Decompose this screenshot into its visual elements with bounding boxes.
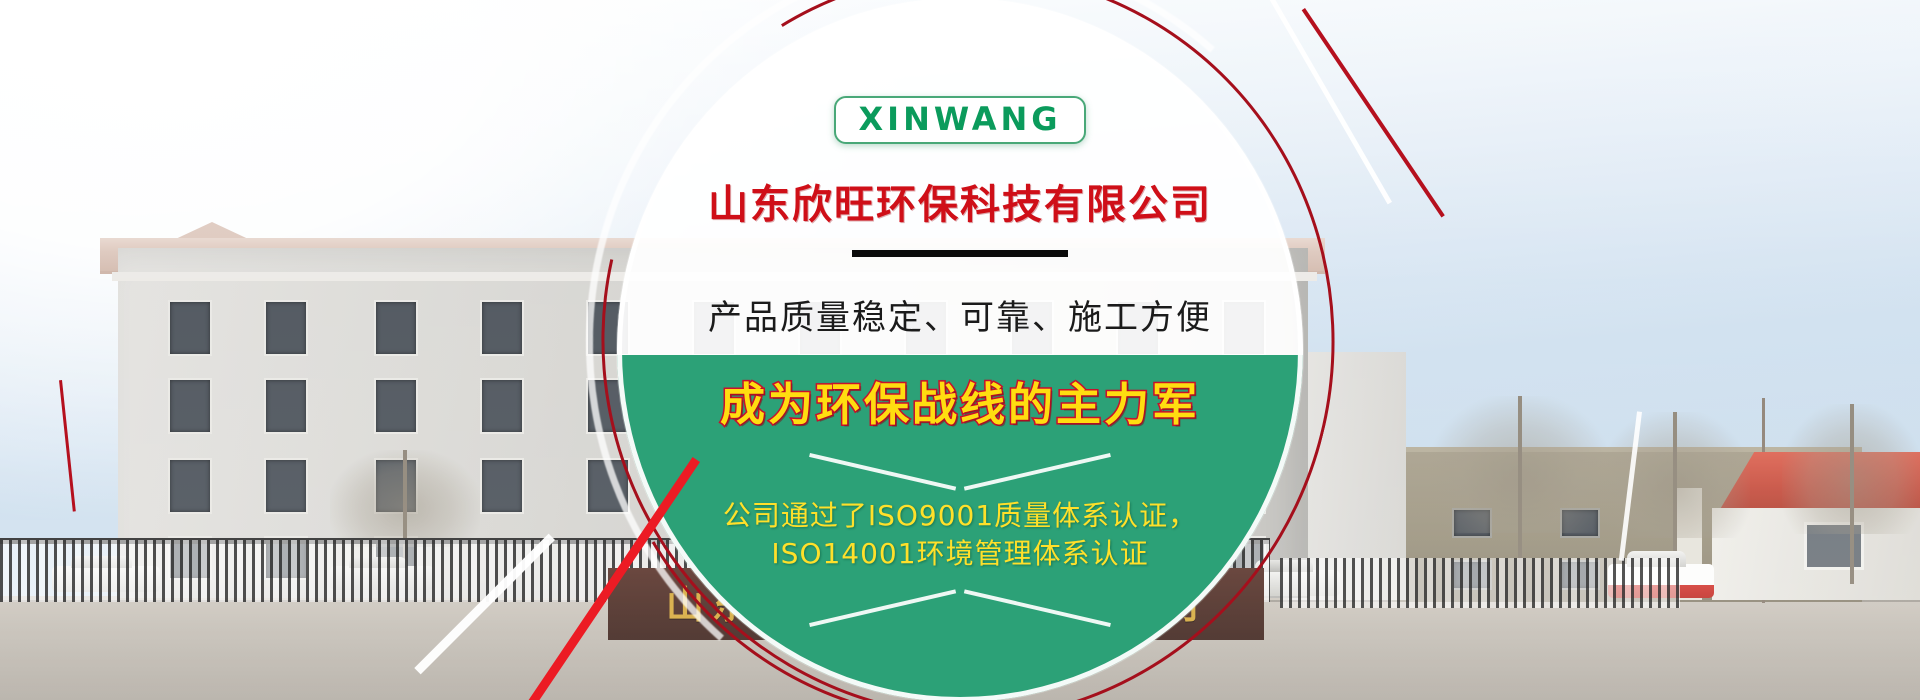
white-diagonal-stroke-icon <box>1619 411 1642 560</box>
certification-line-2: ISO14001环境管理体系认证 <box>723 535 1197 573</box>
certification-line-1: 公司通过了ISO9001质量体系认证， <box>723 497 1197 535</box>
title-divider <box>852 250 1068 257</box>
red-diagonal-stroke-icon <box>1302 8 1445 217</box>
banner-content: XINWANG 山东欣旺环保科技有限公司 产品质量稳定、可靠、施工方便 成为环保… <box>617 0 1303 700</box>
company-name-title: 山东欣旺环保科技有限公司 <box>708 172 1212 230</box>
brand-badge: XINWANG <box>834 96 1085 144</box>
chevron-down-icon <box>810 453 1110 487</box>
certification-text: 公司通过了ISO9001质量体系认证， ISO14001环境管理体系认证 <box>723 497 1197 573</box>
brand-badge-label: XINWANG <box>858 100 1061 138</box>
slogan-text: 成为环保战线的主力军 <box>720 368 1200 433</box>
chevron-up-icon <box>810 593 1110 627</box>
subtitle-text: 产品质量稳定、可靠、施工方便 <box>708 290 1212 339</box>
white-diagonal-stroke-icon <box>414 534 555 675</box>
red-diagonal-stroke-icon <box>59 380 76 512</box>
hero-banner: 山东欣旺环保科技有限公司 XINWANG 山东欣旺环保科技有限公司 产品质量稳定… <box>0 0 1920 700</box>
